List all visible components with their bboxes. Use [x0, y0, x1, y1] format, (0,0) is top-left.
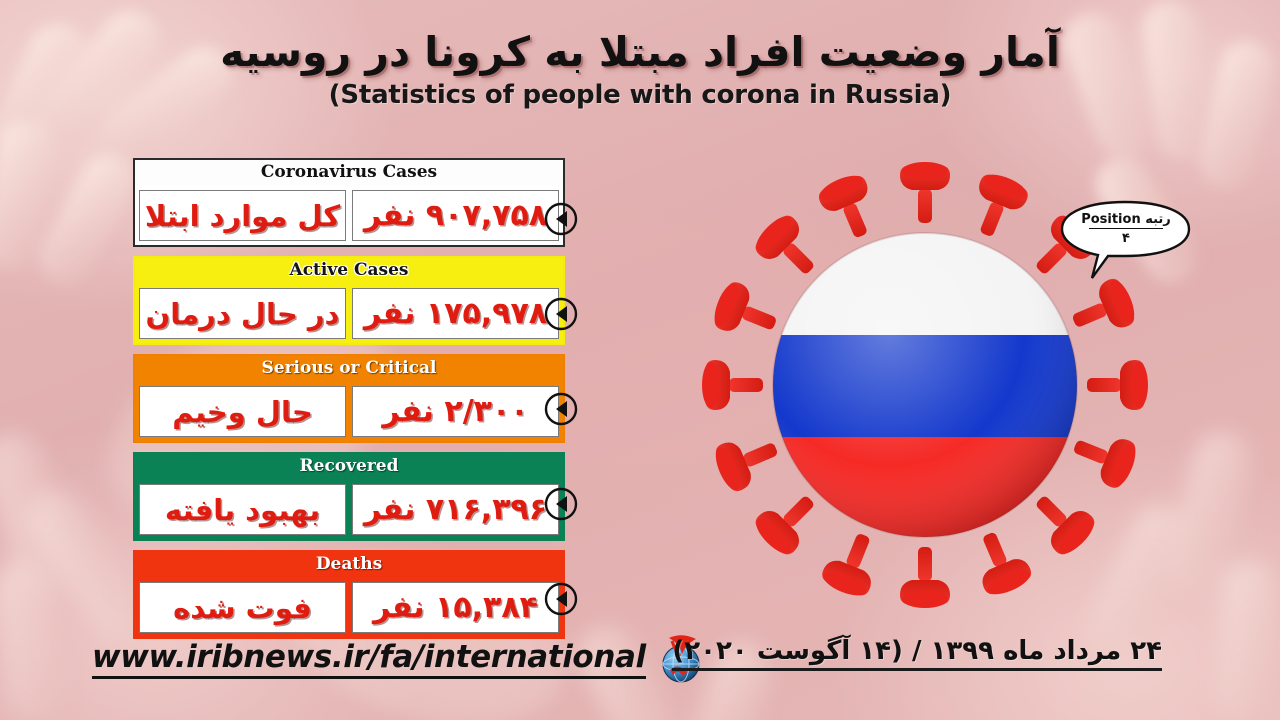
- stat-card-serious[interactable]: Serious or Critical حال وخیم ۲/۳۰۰ نفر: [133, 354, 565, 443]
- stats-card-list: Coronavirus Cases کل موارد ابتلا ۹۰۷,۷۵۸…: [133, 158, 565, 648]
- position-label: رتبه Position: [1072, 212, 1180, 227]
- left-triangle-icon: [544, 392, 578, 426]
- left-triangle-icon: [544, 487, 578, 521]
- page-title-fa: آمار وضعیت افراد مبتلا به کرونا در روسیه: [0, 30, 1280, 76]
- footer-date-underline: [672, 668, 1162, 671]
- stat-card-deaths-value: ۱۵,۳۸۴ نفر: [352, 582, 559, 633]
- stat-card-recovered[interactable]: Recovered بهبود یافته ۷۱۶,۳۹۶ نفر: [133, 452, 565, 541]
- footer-website[interactable]: www.iribnews.ir/fa/international: [92, 632, 706, 686]
- stat-card-deaths-header: Deaths: [135, 552, 563, 578]
- page-title-block: آمار وضعیت افراد مبتلا به کرونا در روسیه…: [0, 30, 1280, 110]
- stat-card-total-value: ۹۰۷,۷۵۸ نفر: [352, 190, 559, 241]
- left-triangle-icon: [544, 297, 578, 331]
- stat-card-serious-label: حال وخیم: [139, 386, 346, 437]
- stat-card-recovered-label: بهبود یافته: [139, 484, 346, 535]
- footer-date-text: ۲۴ مرداد ماه ۱۳۹۹ / (۱۴ آگوست ۲۰۲۰): [672, 636, 1162, 666]
- stat-card-total-body: کل موارد ابتلا ۹۰۷,۷۵۸ نفر: [135, 186, 563, 245]
- left-triangle-icon: [544, 582, 578, 616]
- stat-card-serious-value: ۲/۳۰۰ نفر: [352, 386, 559, 437]
- stat-card-recovered-body: بهبود یافته ۷۱۶,۳۹۶ نفر: [135, 480, 563, 539]
- stat-card-deaths[interactable]: Deaths فوت شده ۱۵,۳۸۴ نفر: [133, 550, 565, 639]
- stat-card-serious-body: حال وخیم ۲/۳۰۰ نفر: [135, 382, 563, 441]
- stat-card-active-header: Active Cases: [135, 258, 563, 284]
- stat-card-active-body: در حال درمان ۱۷۵,۹۷۸ نفر: [135, 284, 563, 343]
- position-value: ۴: [1072, 231, 1180, 246]
- stat-card-active[interactable]: Active Cases در حال درمان ۱۷۵,۹۷۸ نفر: [133, 256, 565, 345]
- position-divider: [1089, 228, 1163, 229]
- stat-card-active-label: در حال درمان: [139, 288, 346, 339]
- stat-card-recovered-value: ۷۱۶,۳۹۶ نفر: [352, 484, 559, 535]
- stat-card-deaths-body: فوت شده ۱۵,۳۸۴ نفر: [135, 578, 563, 637]
- stat-card-recovered-header: Recovered: [135, 454, 563, 480]
- stat-card-total-header: Coronavirus Cases: [135, 160, 563, 186]
- stat-card-total[interactable]: Coronavirus Cases کل موارد ابتلا ۹۰۷,۷۵۸…: [133, 158, 565, 247]
- left-triangle-icon: [544, 202, 578, 236]
- stat-card-deaths-label: فوت شده: [139, 582, 346, 633]
- position-badge-text: رتبه Position ۴: [1072, 212, 1180, 246]
- footer-date: ۲۴ مرداد ماه ۱۳۹۹ / (۱۴ آگوست ۲۰۲۰): [672, 636, 1162, 671]
- stat-card-total-label: کل موارد ابتلا: [139, 190, 346, 241]
- stat-card-active-value: ۱۷۵,۹۷۸ نفر: [352, 288, 559, 339]
- page-title-en: (Statistics of people with corona in Rus…: [0, 80, 1280, 110]
- stat-card-serious-header: Serious or Critical: [135, 356, 563, 382]
- footer-url-text[interactable]: www.iribnews.ir/fa/international: [92, 639, 646, 679]
- position-badge: رتبه Position ۴: [1058, 198, 1193, 288]
